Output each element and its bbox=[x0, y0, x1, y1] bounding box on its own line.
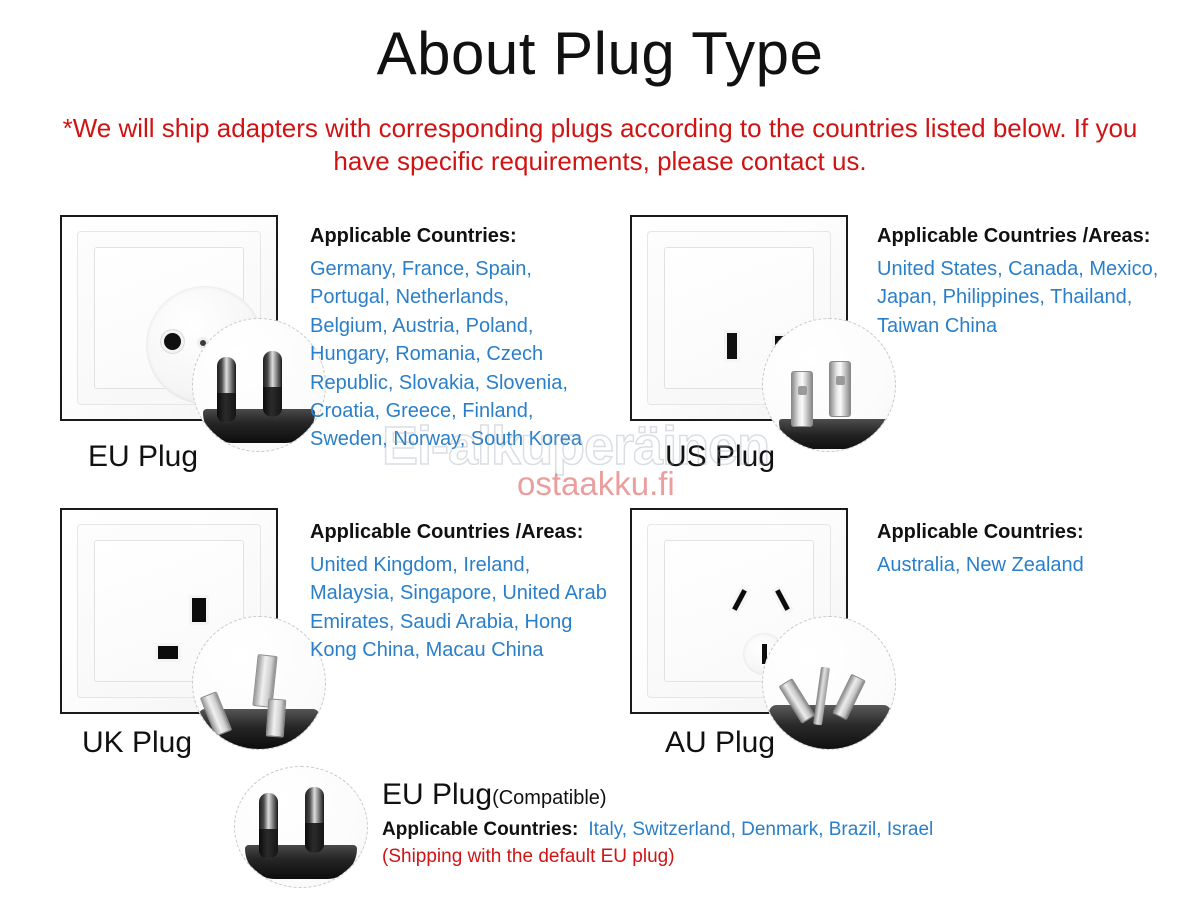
us-plug-blade-right bbox=[829, 361, 851, 417]
au-plug-icon bbox=[762, 616, 896, 750]
eu-plug-pin-left bbox=[259, 793, 278, 859]
plug-card-uk bbox=[60, 508, 282, 718]
info-block-us: Applicable Countries /Areas: United Stat… bbox=[877, 224, 1177, 340]
applicable-countries-heading-au: Applicable Countries: bbox=[877, 520, 1177, 545]
compatible-plug-title-suffix: (Compatible) bbox=[492, 787, 606, 809]
info-block-uk: Applicable Countries /Areas: United King… bbox=[310, 520, 610, 665]
uk-socket-icon bbox=[60, 508, 282, 718]
au-socket-icon bbox=[630, 508, 852, 718]
compatible-shipping-note: (Shipping with the default EU plug) bbox=[382, 846, 1022, 868]
compatible-countries-list: Italy, Switzerland, Denmark, Brazil, Isr… bbox=[588, 819, 933, 840]
compatible-plug-title: EU Plug(Compatible) bbox=[382, 780, 1022, 810]
watermark-secondary: ostaakku.fi bbox=[517, 465, 675, 503]
au-socket-slot-right bbox=[775, 589, 790, 611]
plug-caption-uk: UK Plug bbox=[82, 726, 192, 760]
uk-socket-slot-left bbox=[158, 646, 178, 659]
uk-plug-icon bbox=[192, 616, 326, 750]
us-plug-blade-left bbox=[791, 371, 813, 427]
au-plug-body bbox=[769, 705, 891, 749]
plug-caption-eu: EU Plug bbox=[88, 440, 198, 474]
plug-caption-au: AU Plug bbox=[665, 726, 775, 760]
eu-plug-pin-right bbox=[263, 351, 282, 417]
page-title: About Plug Type bbox=[0, 22, 1200, 85]
uk-plug-pin-right bbox=[266, 698, 287, 737]
eu-socket-icon bbox=[60, 215, 282, 425]
applicable-countries-list-us: United States, Canada, Mexico, Japan, Ph… bbox=[877, 255, 1177, 340]
applicable-countries-list-uk: United Kingdom, Ireland, Malaysia, Singa… bbox=[310, 551, 610, 665]
applicable-countries-list-eu: Germany, France, Spain, Portugal, Nether… bbox=[310, 255, 590, 454]
au-socket-slot-left bbox=[732, 589, 747, 611]
plug-card-us bbox=[630, 215, 852, 425]
applicable-countries-list-au: Australia, New Zealand bbox=[877, 551, 1177, 579]
compatible-countries-line: Applicable Countries:Italy, Switzerland,… bbox=[382, 819, 1022, 841]
eu-plug-pin-left bbox=[217, 357, 236, 423]
compatible-plug-illustration bbox=[234, 766, 366, 880]
plug-card-au bbox=[630, 508, 852, 718]
us-plug-icon bbox=[762, 318, 896, 452]
applicable-countries-heading-eu: Applicable Countries: bbox=[310, 224, 590, 249]
applicable-countries-heading-us: Applicable Countries /Areas: bbox=[877, 224, 1177, 249]
applicable-countries-heading-uk: Applicable Countries /Areas: bbox=[310, 520, 610, 545]
uk-socket-slot-earth bbox=[192, 598, 206, 622]
eu-plug-icon bbox=[192, 318, 326, 452]
us-socket-icon bbox=[630, 215, 852, 425]
plug-caption-us: US Plug bbox=[665, 440, 775, 474]
shipping-note: *We will ship adapters with correspondin… bbox=[60, 112, 1140, 179]
compatible-plug-info: EU Plug(Compatible) Applicable Countries… bbox=[382, 780, 1022, 868]
info-block-eu: Applicable Countries: Germany, France, S… bbox=[310, 224, 590, 454]
compatible-plug-title-main: EU Plug bbox=[382, 778, 492, 811]
plug-card-eu bbox=[60, 215, 282, 425]
eu-socket-hole-left bbox=[164, 333, 181, 350]
compatible-countries-heading: Applicable Countries: bbox=[382, 819, 578, 840]
plug-type-infographic: About Plug Type *We will ship adapters w… bbox=[0, 0, 1200, 900]
eu-plug-icon bbox=[234, 766, 368, 888]
us-socket-slot-left bbox=[727, 333, 737, 359]
info-block-au: Applicable Countries: Australia, New Zea… bbox=[877, 520, 1177, 579]
eu-plug-pin-right bbox=[305, 787, 324, 853]
